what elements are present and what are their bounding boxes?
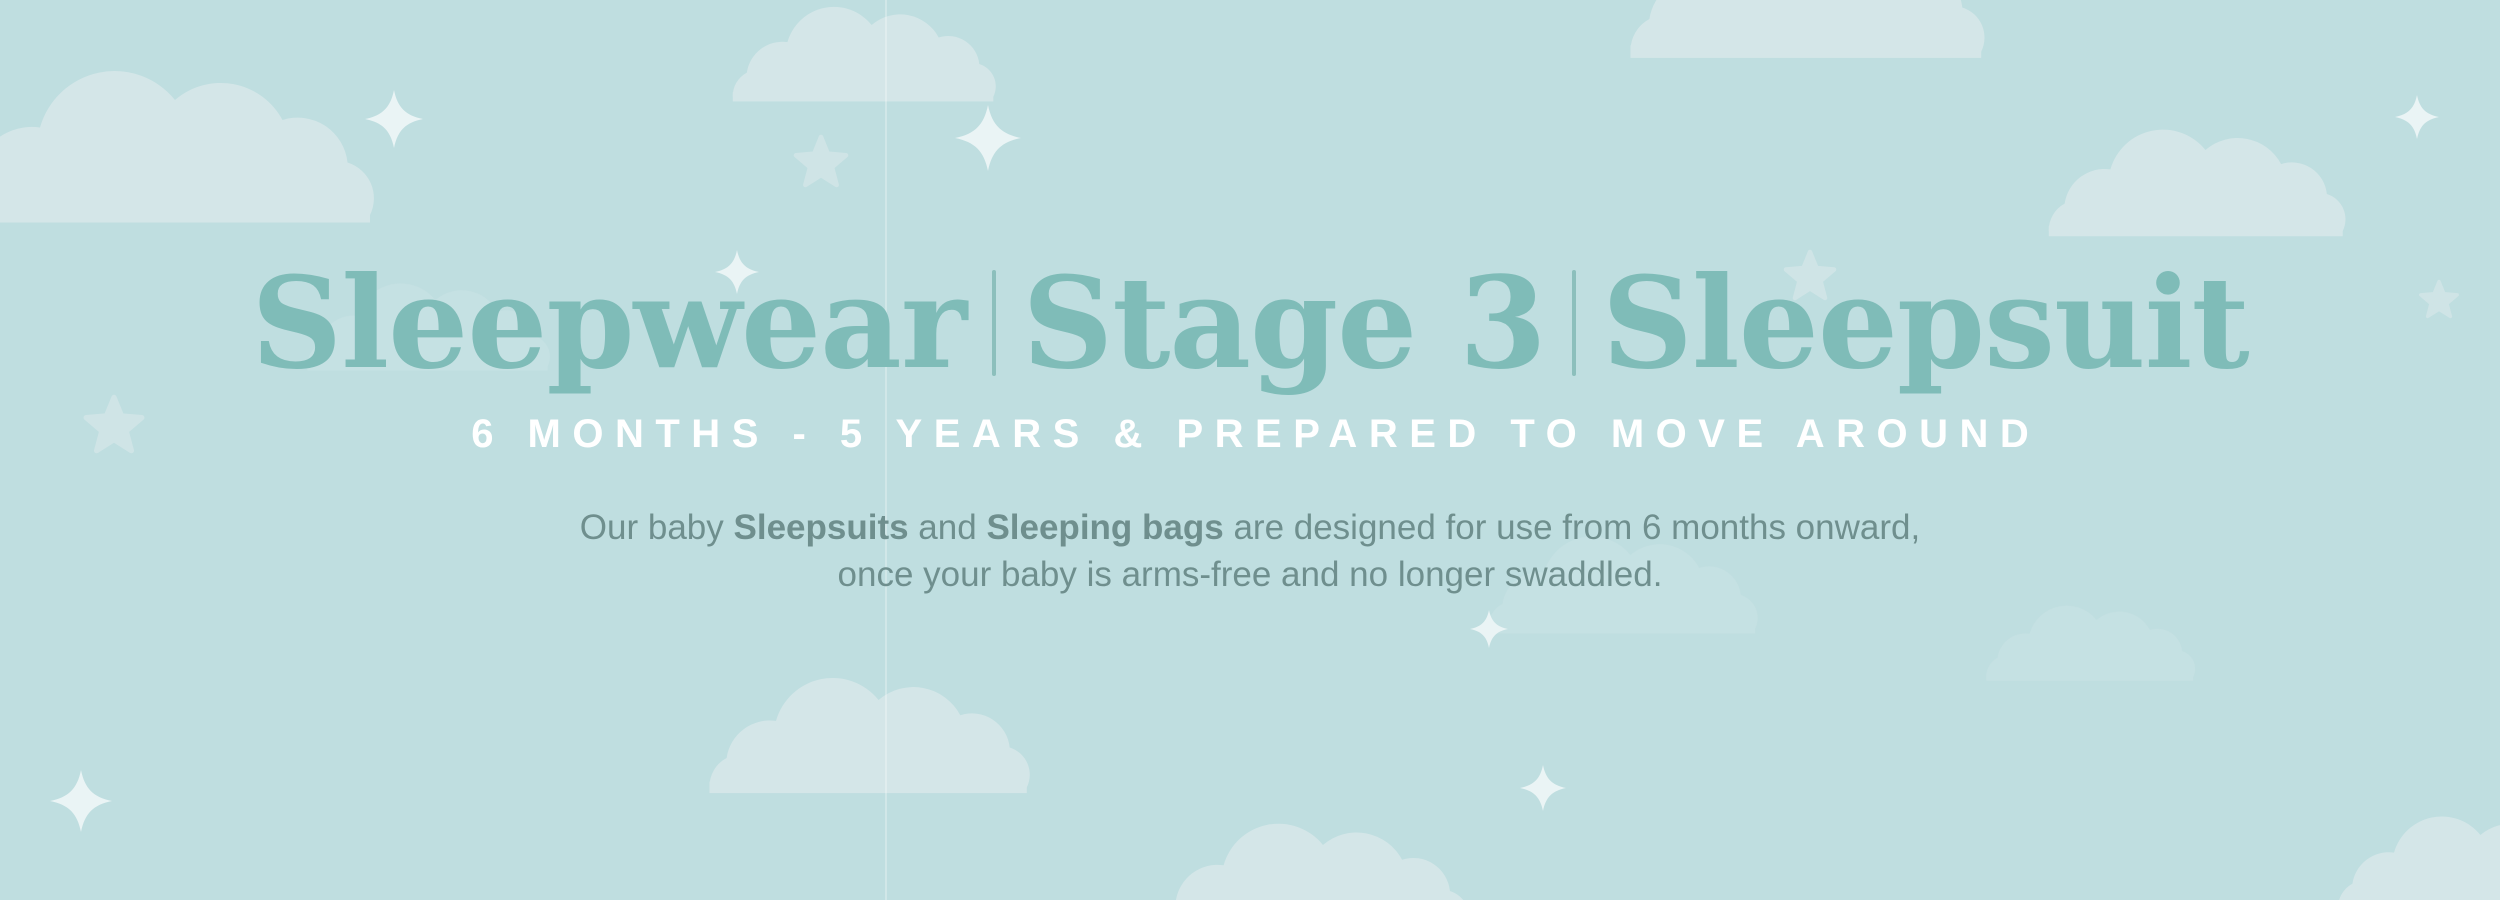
title-part-stage: Stage 3 bbox=[996, 260, 1572, 386]
banner-content: Sleepwear Stage 3 Sleepsuit 6 MONTHS - 5… bbox=[0, 0, 2500, 900]
description-segment-2: and bbox=[909, 508, 987, 547]
description-segment-1: Our baby bbox=[580, 508, 734, 547]
title-part-sleepsuit: Sleepsuit bbox=[1576, 260, 2275, 386]
description-bold-sleepsuits: Sleepsuits bbox=[734, 508, 909, 547]
page-title: Sleepwear Stage 3 Sleepsuit bbox=[225, 260, 2275, 386]
description-bold-sleeping-bags: Sleeping bags bbox=[986, 508, 1223, 547]
banner-subtitle: 6 MONTHS - 5 YEARS & PREPARED TO MOVE AR… bbox=[460, 412, 2041, 457]
promo-banner: Sleepwear Stage 3 Sleepsuit 6 MONTHS - 5… bbox=[0, 0, 2500, 900]
banner-description: Our baby Sleepsuits and Sleeping bags ar… bbox=[540, 505, 1960, 597]
title-part-sleepwear: Sleepwear bbox=[225, 260, 992, 386]
